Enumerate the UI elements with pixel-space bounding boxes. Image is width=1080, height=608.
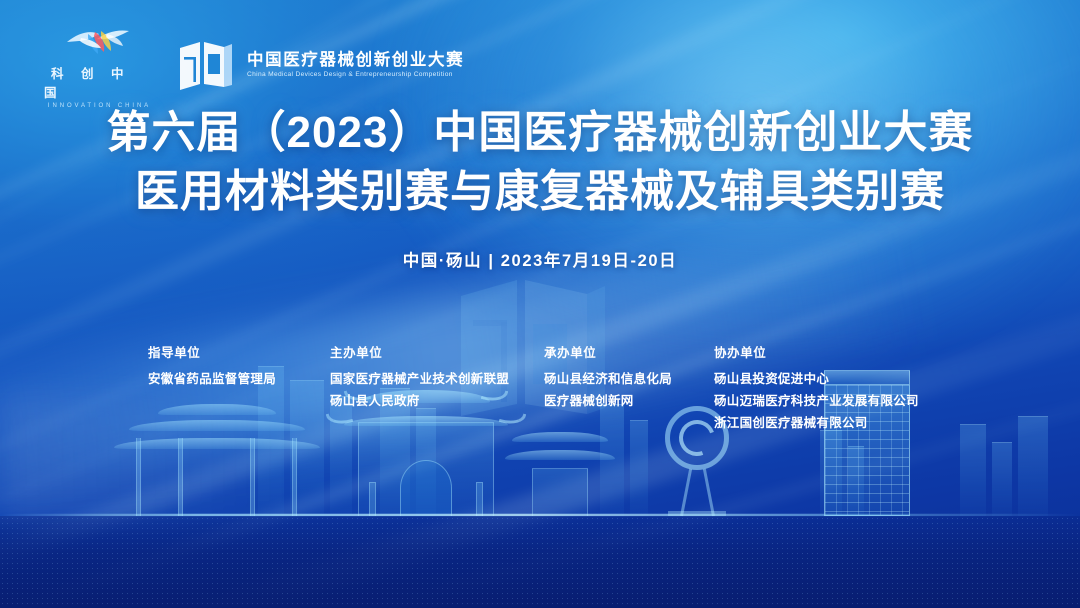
phoenix-bird-icon <box>61 22 135 58</box>
organizer-name: 砀山迈瑞医疗科技产业发展有限公司 <box>714 392 964 410</box>
organizer-name: 砀山县人民政府 <box>330 392 544 410</box>
organizer-role: 承办单位 <box>544 342 714 361</box>
organizer-role: 主办单位 <box>330 342 544 361</box>
organizer-name: 砀山县投资促进中心 <box>714 370 964 388</box>
competition-name-cn: 中国医疗器械创新创业大赛 <box>247 52 464 69</box>
light-streak <box>0 274 1080 608</box>
title-line-2: 医用材料类别赛与康复器械及辅具类别赛 <box>0 163 1080 222</box>
building-block <box>992 442 1012 516</box>
organizer-group-guidance: 指导单位 安徽省药品监督管理局 <box>148 342 330 436</box>
competition-name-en: China Medical Devices Design & Entrepren… <box>247 72 464 79</box>
organizer-group-host: 主办单位 国家医疗器械产业技术创新联盟 砀山县人民政府 <box>330 342 544 436</box>
building-block <box>820 430 842 516</box>
building-block <box>960 424 986 516</box>
building-block <box>848 446 864 516</box>
horizon-line <box>0 514 1080 516</box>
organizer-role: 指导单位 <box>148 342 330 361</box>
event-location-date: 中国·砀山 | 2023年7月19日-20日 <box>0 247 1080 271</box>
open-door-icon <box>178 40 234 92</box>
organizer-name: 医疗器械创新网 <box>544 392 714 410</box>
organizer-name: 安徽省药品监督管理局 <box>148 370 330 388</box>
organizer-name: 国家医疗器械产业技术创新联盟 <box>330 370 544 388</box>
innovation-china-cn: 科 创 中 国 <box>44 63 152 101</box>
organizer-group-organizer: 承办单位 砀山县经济和信息化局 医疗器械创新网 <box>544 342 714 436</box>
innovation-china-logo: 科 创 中 国 INNOVATION CHINA <box>44 22 152 109</box>
organizer-list: 指导单位 安徽省药品监督管理局 主办单位 国家医疗器械产业技术创新联盟 砀山县人… <box>148 342 1040 436</box>
competition-logo: 中国医疗器械创新创业大赛 China Medical Devices Desig… <box>178 40 464 92</box>
pavilion-icon <box>500 424 620 516</box>
ground-dot-pattern <box>0 516 1080 608</box>
organizer-name: 浙江国创医疗器械有限公司 <box>714 414 964 432</box>
header-logos: 科 创 中 国 INNOVATION CHINA 中国医疗器械创新创业大赛 Ch… <box>44 22 464 109</box>
organizer-group-coorganizer: 协办单位 砀山县投资促进中心 砀山迈瑞医疗科技产业发展有限公司 浙江国创医疗器械… <box>714 342 964 436</box>
competition-logo-text: 中国医疗器械创新创业大赛 China Medical Devices Desig… <box>247 52 464 78</box>
poster-root: 科 创 中 国 INNOVATION CHINA 中国医疗器械创新创业大赛 Ch… <box>0 0 1080 608</box>
organizer-role: 协办单位 <box>714 342 964 361</box>
title-line-1: 第六届（2023）中国医疗器械创新创业大赛 <box>0 104 1080 163</box>
title-block: 第六届（2023）中国医疗器械创新创业大赛 医用材料类别赛与康复器械及辅具类别赛… <box>0 104 1080 271</box>
ground-plane <box>0 516 1080 608</box>
organizer-name: 砀山县经济和信息化局 <box>544 370 714 388</box>
